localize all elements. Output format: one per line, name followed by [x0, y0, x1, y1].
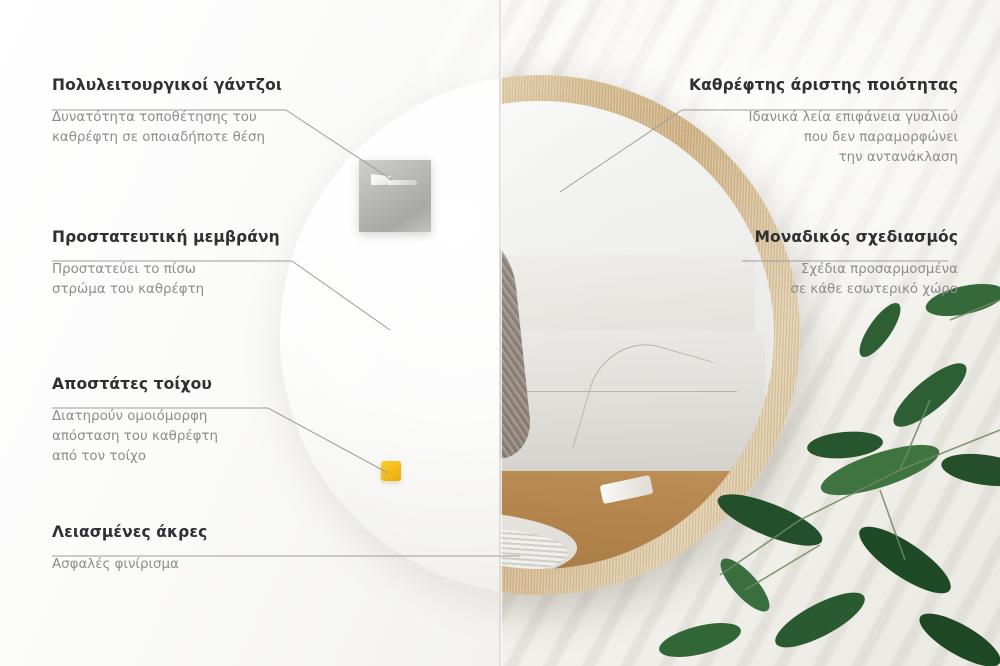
feature-desc-hooks: Δυνατότητα τοποθέτησης του καθρέφτη σε ο… — [52, 108, 282, 149]
feature-desc-spacers: Διατηρούν ομοιόμορφη απόσταση του καθρέφ… — [52, 407, 218, 468]
feature-title-edges: Λειασμένες άκρες — [52, 523, 207, 542]
infographic-stage: Πολυλειτουργικοί γάντζοι Δυνατότητα τοπο… — [0, 0, 1000, 666]
feature-title-spacers: Αποστάτες τοίχου — [52, 375, 218, 394]
feature-block-spacers: Αποστάτες τοίχου Διατηρούν ομοιόμορφη απ… — [52, 375, 218, 468]
feature-block-design: Μοναδικός σχεδιασμός Σχέδια προσαρμοσμέν… — [754, 228, 958, 300]
feature-desc-edges: Ασφαλές φινίρισμα — [52, 555, 207, 575]
feature-block-membrane: Προστατευτική μεμβράνη Προστατεύει το πί… — [52, 228, 280, 300]
feature-desc-design: Σχέδια προσαρμοσμένα σε κάθε εσωτερικό χ… — [754, 260, 958, 301]
feature-block-edges: Λειασμένες άκρες Ασφαλές φινίρισμα — [52, 523, 207, 575]
feature-desc-quality: Ιδανικά λεία επιφάνεια γυαλιού που δεν π… — [689, 108, 958, 169]
feature-title-design: Μοναδικός σχεδιασμός — [754, 228, 958, 247]
feature-desc-membrane: Προστατεύει το πίσω στρώμα του καθρέφτη — [52, 260, 280, 301]
feature-block-hooks: Πολυλειτουργικοί γάντζοι Δυνατότητα τοπο… — [52, 76, 282, 148]
feature-block-quality: Καθρέφτης άριστης ποιότητας Ιδανικά λεία… — [689, 76, 958, 169]
hook-plate — [359, 160, 431, 232]
mirror-glass — [500, 101, 774, 569]
panel-divider — [499, 0, 502, 666]
yellow-spacer — [381, 461, 401, 481]
feature-title-hooks: Πολυλειτουργικοί γάντζοι — [52, 76, 282, 95]
feature-title-membrane: Προστατευτική μεμβράνη — [52, 228, 280, 247]
feature-title-quality: Καθρέφτης άριστης ποιότητας — [689, 76, 958, 95]
hook-slot-icon — [371, 174, 417, 186]
